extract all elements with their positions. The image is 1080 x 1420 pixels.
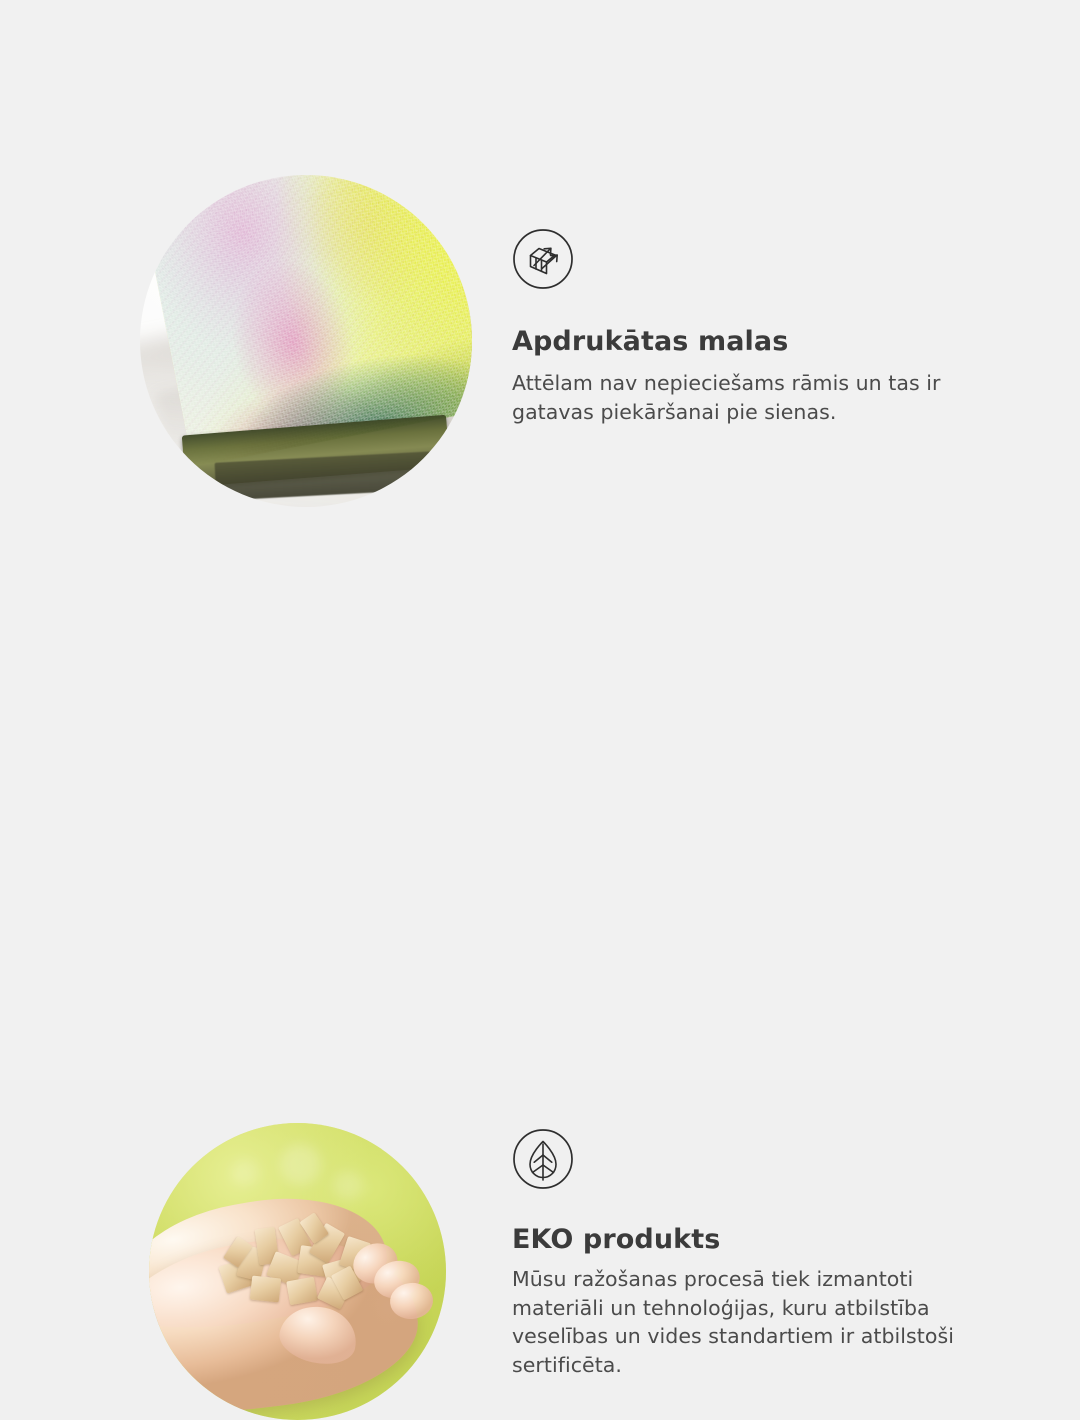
fingers bbox=[351, 1242, 440, 1331]
canvas-corner-photo bbox=[140, 175, 472, 507]
feature-text-eco-product: EKO produkts Mūsu ražošanas procesā tiek… bbox=[512, 1128, 1012, 1379]
feature-title: Apdrukātas malas bbox=[512, 326, 1012, 358]
bokeh-light bbox=[333, 1171, 363, 1201]
feature-description: Attēlam nav nepieciešams rāmis un tas ir… bbox=[512, 369, 994, 426]
feature-block-eco-product: EKO produkts Mūsu ražošanas procesā tiek… bbox=[0, 540, 1080, 1080]
printed-edges-icon bbox=[512, 228, 574, 290]
feature-panel: Apdrukātas malas Attēlam nav nepieciešam… bbox=[0, 0, 1080, 1080]
feature-description: Mūsu ražošanas procesā tiek izmantoti ma… bbox=[512, 1265, 994, 1379]
bokeh-light bbox=[232, 1159, 259, 1186]
feature-block-printed-edges: Apdrukātas malas Attēlam nav nepieciešam… bbox=[0, 0, 1080, 540]
leaf-icon bbox=[512, 1128, 574, 1190]
canvas-panel bbox=[140, 175, 472, 467]
feature-text-printed-edges: Apdrukātas malas Attēlam nav nepieciešam… bbox=[512, 228, 1012, 426]
hands-wood-chips-photo bbox=[149, 1123, 446, 1420]
feature-title: EKO produkts bbox=[512, 1224, 1012, 1256]
